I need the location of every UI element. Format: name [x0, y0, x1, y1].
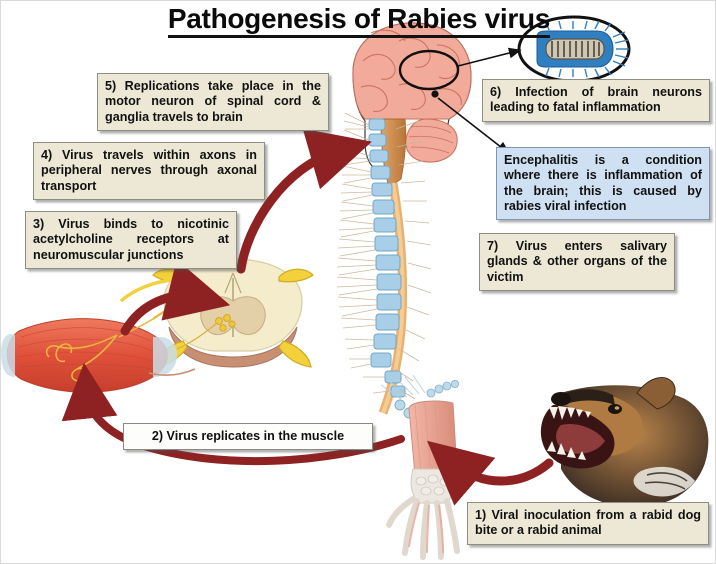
label-step-1: 1) Viral inoculation from a rabid dog bi…	[467, 502, 709, 545]
label-step-6: 6) Infection of brain neurons leading to…	[482, 79, 710, 122]
arrow-dog-to-arm	[453, 463, 549, 481]
label-step-3: 3) Virus binds to nicotinic acetylcholin…	[25, 211, 237, 269]
label-step-5: 5) Replications take place in the motor …	[97, 73, 329, 131]
label-encephalitis: Encephalitis is a condition where there …	[496, 147, 710, 220]
diagram-canvas: Pathogenesis of Rabies virus 5) Replicat…	[0, 0, 716, 564]
head-and-brain-sagittal	[353, 23, 471, 187]
label-step-4: 4) Virus travels within axons in periphe…	[33, 142, 265, 200]
label-step-2: 2) Virus replicates in the muscle	[123, 423, 373, 450]
brain-neuron-marker	[431, 90, 438, 97]
page-title: Pathogenesis of Rabies virus	[1, 3, 716, 35]
hand-metacarpals-and-fingers	[389, 499, 457, 557]
snarling-rabid-dog	[541, 378, 709, 508]
label-step-7: 7) Virus enters salivary glands & other …	[479, 233, 675, 291]
forearm-and-hand-anatomy	[381, 375, 459, 557]
